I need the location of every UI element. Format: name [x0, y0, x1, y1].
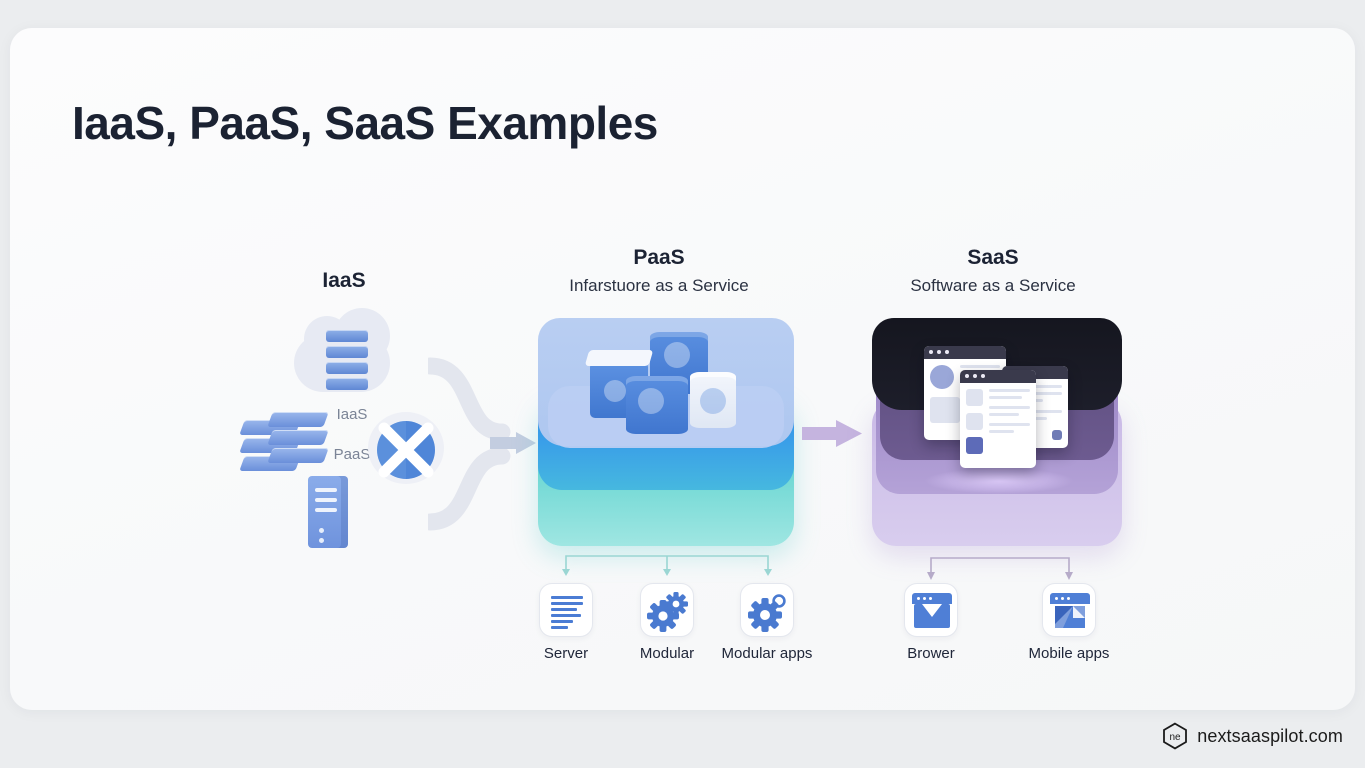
saas-glow	[924, 468, 1074, 494]
arrow-paas-to-saas	[802, 412, 866, 456]
app-window-mock-2	[960, 370, 1036, 468]
document-lines-icon	[551, 596, 583, 626]
paas-item-label-modular-apps: Modular apps	[719, 645, 815, 663]
gear-node-icon	[741, 584, 795, 638]
paas-connector-lines	[536, 548, 804, 580]
window-bar-icon	[912, 593, 952, 604]
iaas-inline-label: IaaS	[322, 406, 382, 423]
ne-hexagon-logo-icon: ne	[1162, 722, 1188, 750]
tower-server-icon	[308, 476, 348, 548]
column-subtitle-paas: Infarstuore as a Service	[528, 274, 790, 298]
slide-stage: IaaS, PaaS, SaaS Examples IaaS PaaS Infa…	[0, 0, 1365, 768]
column-title-iaas: IaaS	[244, 268, 444, 294]
saas-card	[872, 318, 1122, 546]
watermark: ne nextsaaspilot.com	[1162, 722, 1343, 750]
saas-item-label-mobile-apps: Mobile apps	[1021, 645, 1117, 663]
paas-item-label-modular: Modular	[619, 645, 715, 663]
envelope-window-icon	[914, 604, 950, 628]
saas-item-label-brower: Brower	[883, 645, 979, 663]
svg-text:ne: ne	[1170, 732, 1182, 743]
mobile-app-window-icon	[1051, 604, 1089, 630]
iaas-converging-arrows	[428, 322, 538, 562]
iaas-illustration: IaaS PaaS	[232, 316, 532, 568]
column-subtitle-saas: Software as a Service	[866, 274, 1120, 298]
window-bar-icon-2	[1050, 593, 1090, 604]
paas-item-modular[interactable]	[640, 583, 694, 637]
paas-item-label-server: Server	[518, 645, 614, 663]
paas-card	[538, 318, 794, 546]
saas-item-mobile-apps[interactable]	[1042, 583, 1096, 637]
server-rack-icon	[326, 330, 368, 392]
column-heading-paas: PaaS Infarstuore as a Service	[528, 245, 790, 298]
saas-item-brower[interactable]	[904, 583, 958, 637]
column-heading-iaas: IaaS	[244, 268, 444, 294]
paas-item-server[interactable]	[539, 583, 593, 637]
double-gear-icon	[641, 584, 695, 638]
page-title: IaaS, PaaS, SaaS Examples	[72, 96, 658, 150]
column-title-saas: SaaS	[866, 245, 1120, 271]
database-cluster-icon	[590, 332, 750, 442]
watermark-text: nextsaaspilot.com	[1197, 726, 1343, 747]
column-title-paas: PaaS	[528, 245, 790, 271]
paas-item-modular-apps[interactable]	[740, 583, 794, 637]
saas-connector-lines	[900, 552, 1080, 584]
column-heading-saas: SaaS Software as a Service	[866, 245, 1120, 298]
